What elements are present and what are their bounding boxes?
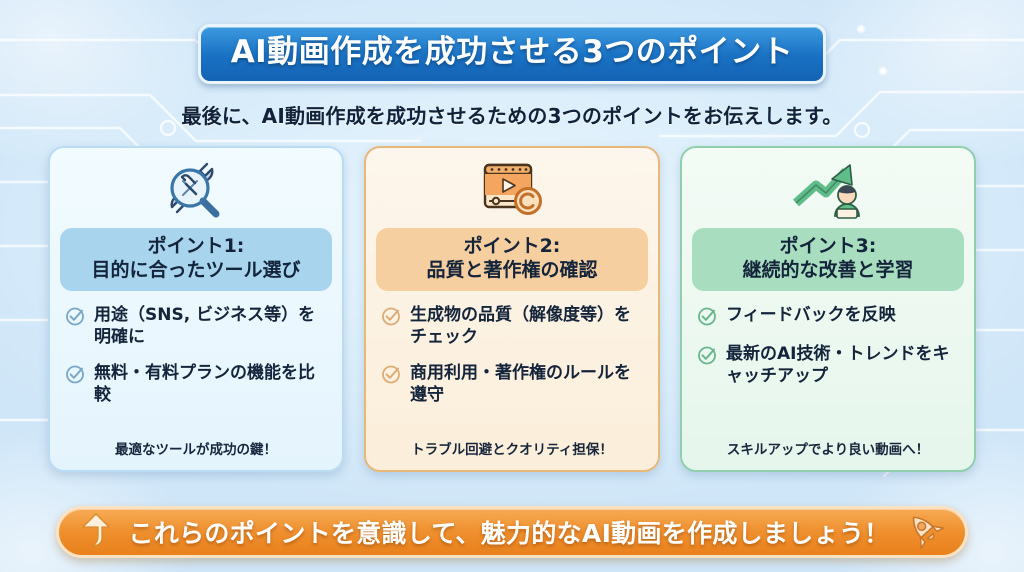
bullet-item: 用途（SNS, ビジネス等）を明確に xyxy=(65,304,327,349)
growth-person-icon xyxy=(790,154,866,228)
bullet-item: 最新のAI技術・トレンドをキャッチアップ xyxy=(697,343,959,388)
bullet-text: フィードバックを反映 xyxy=(726,304,896,326)
bullet-text: 生成物の品質（解像度等）をチェック xyxy=(410,304,643,349)
cta-banner: これらのポイントを意識して、魅力的なAI動画を作成しましょう！ xyxy=(56,506,968,558)
card-3-bullets: フィードバックを反映 最新のAI技術・トレンドをキャッチアップ xyxy=(697,304,959,438)
bullet-text: 無料・有料プランの機能を比較 xyxy=(94,362,327,407)
card-2-heading-line1: ポイント2: xyxy=(464,235,561,257)
check-circle-icon xyxy=(697,306,717,330)
card-2-heading: ポイント2: 品質と著作権の確認 xyxy=(376,228,648,291)
curved-up-arrow-icon xyxy=(79,511,113,553)
card-1-heading-line2: 目的に合ったツール選び xyxy=(64,258,328,282)
card-2-footer: トラブル回避とクオリティ担保！ xyxy=(411,438,613,458)
rocket-icon xyxy=(905,510,945,554)
card-1-heading: ポイント1: 目的に合ったツール選び xyxy=(60,228,332,291)
bullet-item: 商用利用・著作権のルールを遵守 xyxy=(381,362,643,407)
point-card-2: ポイント2: 品質と著作権の確認 生成物の品質（解像度等）をチェック 商用利用・… xyxy=(364,146,660,472)
bullet-item: 無料・有料プランの機能を比較 xyxy=(65,362,327,407)
magnifier-tools-icon xyxy=(160,154,232,228)
card-3-heading-line2: 継続的な改善と学習 xyxy=(696,258,960,282)
page-title: AI動画作成を成功させる3つのポイント xyxy=(231,34,794,71)
video-copyright-icon xyxy=(476,154,548,228)
bullet-text: 最新のAI技術・トレンドをキャッチアップ xyxy=(726,343,959,388)
card-1-heading-line1: ポイント1: xyxy=(148,235,245,257)
check-circle-icon xyxy=(65,364,85,388)
card-1-footer: 最適なツールが成功の鍵！ xyxy=(115,438,277,458)
page-subtitle: 最後に、AI動画作成を成功させるための3つのポイントをお伝えします。 xyxy=(0,100,1024,129)
bullet-item: 生成物の品質（解像度等）をチェック xyxy=(381,304,643,349)
bullet-text: 用途（SNS, ビジネス等）を明確に xyxy=(94,304,327,349)
check-circle-icon xyxy=(381,364,401,388)
bullet-item: フィードバックを反映 xyxy=(697,304,959,330)
check-circle-icon xyxy=(697,345,717,369)
card-1-bullets: 用途（SNS, ビジネス等）を明確に 無料・有料プランの機能を比較 xyxy=(65,304,327,438)
point-card-1: ポイント1: 目的に合ったツール選び 用途（SNS, ビジネス等）を明確に 無料… xyxy=(48,146,344,472)
card-3-heading: ポイント3: 継続的な改善と学習 xyxy=(692,228,964,291)
check-circle-icon xyxy=(65,306,85,330)
card-3-footer: スキルアップでより良い動画へ！ xyxy=(727,438,929,458)
title-pill: AI動画作成を成功させる3つのポイント xyxy=(198,24,827,84)
check-circle-icon xyxy=(381,306,401,330)
bullet-text: 商用利用・著作権のルールを遵守 xyxy=(410,362,643,407)
slide-canvas: AI動画作成を成功させる3つのポイント 最後に、AI動画作成を成功させるための3… xyxy=(0,0,1024,572)
card-2-heading-line2: 品質と著作権の確認 xyxy=(380,258,644,282)
cta-banner-wrap: これらのポイントを意識して、魅力的なAI動画を作成しましょう！ xyxy=(0,506,1024,558)
card-3-heading-line1: ポイント3: xyxy=(780,235,877,257)
point-card-3: ポイント3: 継続的な改善と学習 フィードバックを反映 最新のAI技術・トレンド… xyxy=(680,146,976,472)
cta-banner-text: これらのポイントを意識して、魅力的なAI動画を作成しましょう！ xyxy=(129,514,890,550)
title-banner: AI動画作成を成功させる3つのポイント xyxy=(0,24,1024,84)
card-2-bullets: 生成物の品質（解像度等）をチェック 商用利用・著作権のルールを遵守 xyxy=(381,304,643,438)
points-card-group: ポイント1: 目的に合ったツール選び 用途（SNS, ビジネス等）を明確に 無料… xyxy=(48,146,976,472)
